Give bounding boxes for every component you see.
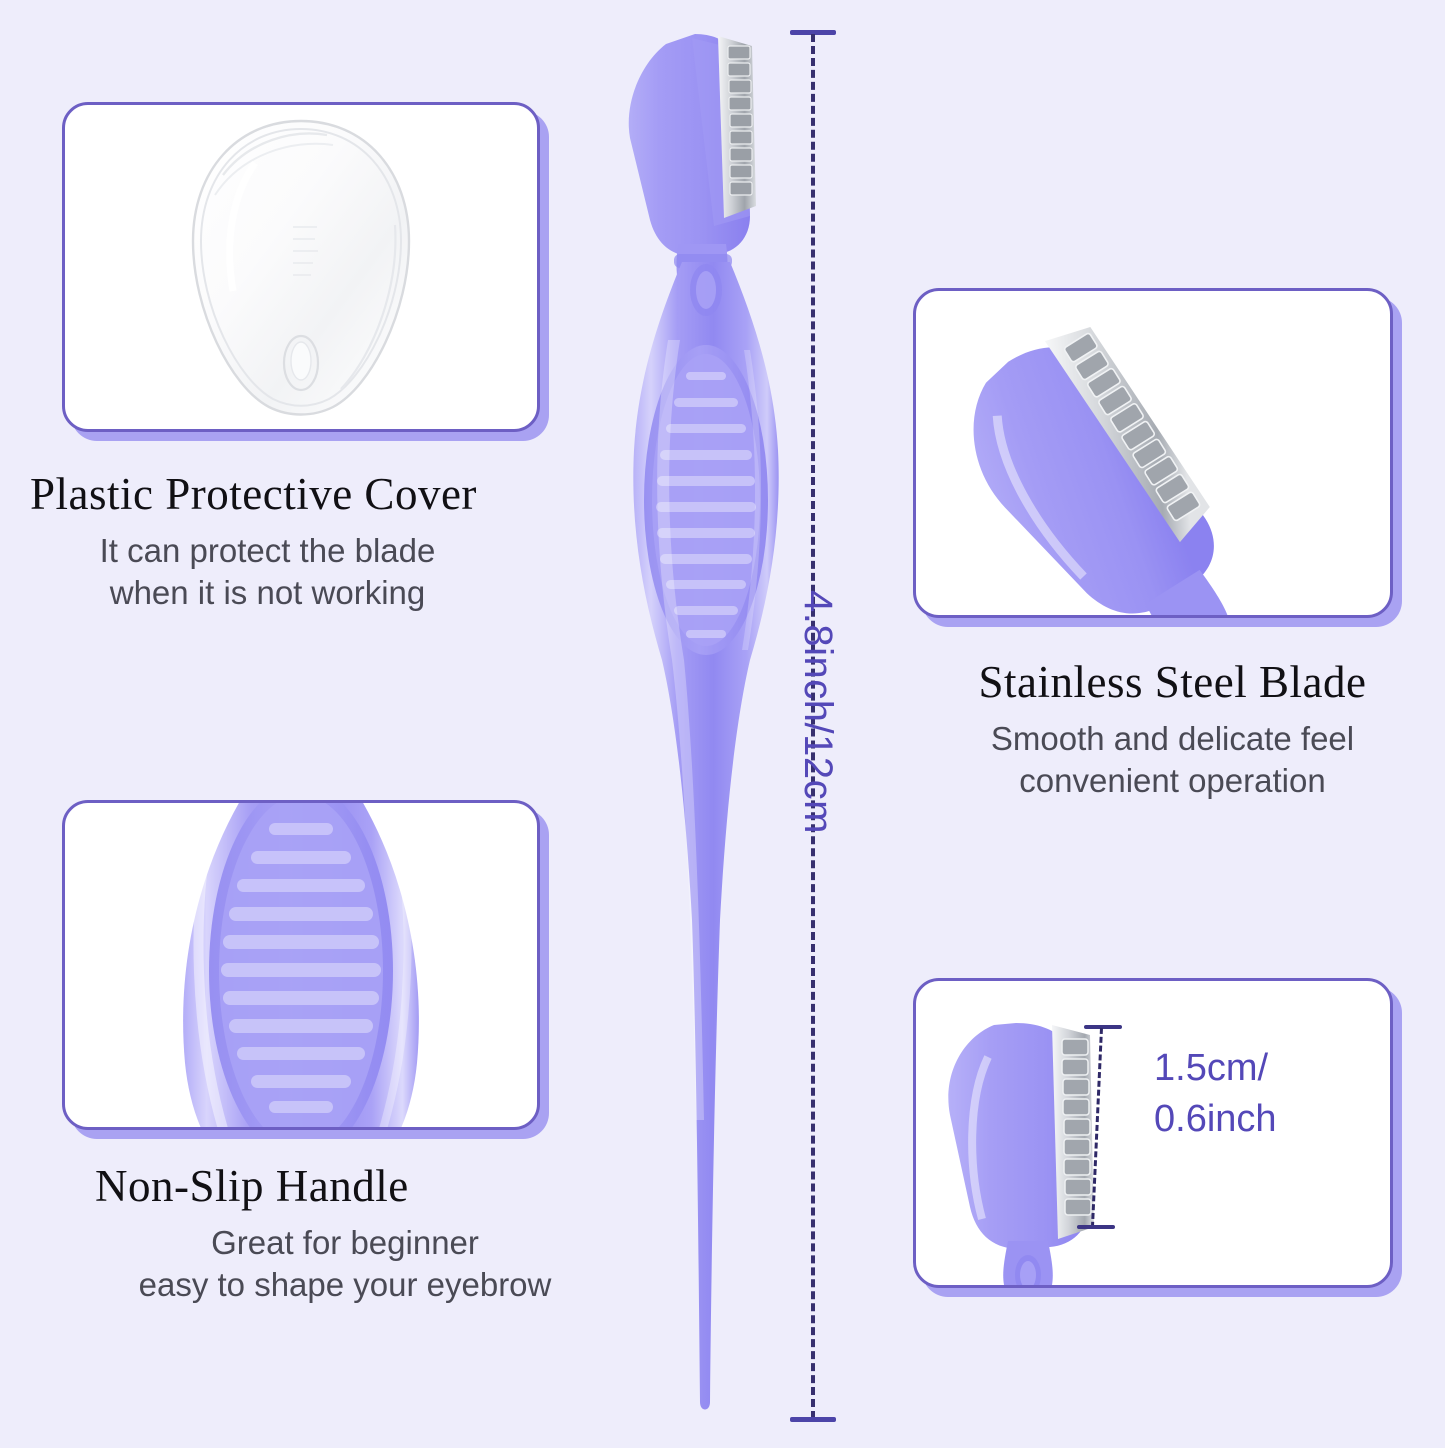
card-body: 1.5cm/ 0.6inch xyxy=(913,978,1393,1288)
feature-card-dimension: 1.5cm/ 0.6inch xyxy=(913,978,1393,1288)
feature-card-cover xyxy=(62,102,540,432)
eyebrow-razor-full-view-svg xyxy=(600,20,810,1420)
plastic-protective-cover-photo xyxy=(65,105,537,429)
blade-head-dimension-photo xyxy=(916,981,1390,1285)
feature-title-handle: Non-Slip Handle xyxy=(95,1160,595,1212)
feature-desc-cover: It can protect the blade when it is not … xyxy=(30,530,575,614)
feature-card-blade xyxy=(913,288,1393,618)
feature-card-handle xyxy=(62,800,540,1130)
feature-text-handle: Non-Slip Handle Great for beginner easy … xyxy=(95,1160,595,1306)
blade-dim-dashed-line xyxy=(1091,1028,1103,1228)
length-dimension-label: 4.8inch/12cm xyxy=(795,590,840,834)
main-product-image xyxy=(600,20,810,1420)
blade-width-label: 1.5cm/ 0.6inch xyxy=(1154,1043,1277,1146)
non-slip-handle-closeup-photo xyxy=(65,803,537,1127)
feature-text-cover: Plastic Protective Cover It can protect … xyxy=(30,468,575,614)
stainless-steel-blade-closeup-photo xyxy=(916,291,1390,615)
feature-desc-handle: Great for beginner easy to shape your ey… xyxy=(95,1222,595,1306)
card-body xyxy=(62,800,540,1130)
card-body xyxy=(913,288,1393,618)
feature-text-blade: Stainless Steel Blade Smooth and delicat… xyxy=(900,656,1445,802)
infographic-canvas: 4.8inch/12cm xyxy=(0,0,1445,1448)
blade-width-dimension-line xyxy=(1076,1025,1136,1231)
blade-dim-cap-bottom xyxy=(1077,1225,1115,1229)
card-body xyxy=(62,102,540,432)
feature-title-blade: Stainless Steel Blade xyxy=(900,656,1445,708)
feature-title-cover: Plastic Protective Cover xyxy=(30,468,575,520)
dimension-cap-bottom xyxy=(790,1417,836,1422)
feature-desc-blade: Smooth and delicate feel convenient oper… xyxy=(900,718,1445,802)
blade-dim-cap-top xyxy=(1084,1025,1122,1029)
